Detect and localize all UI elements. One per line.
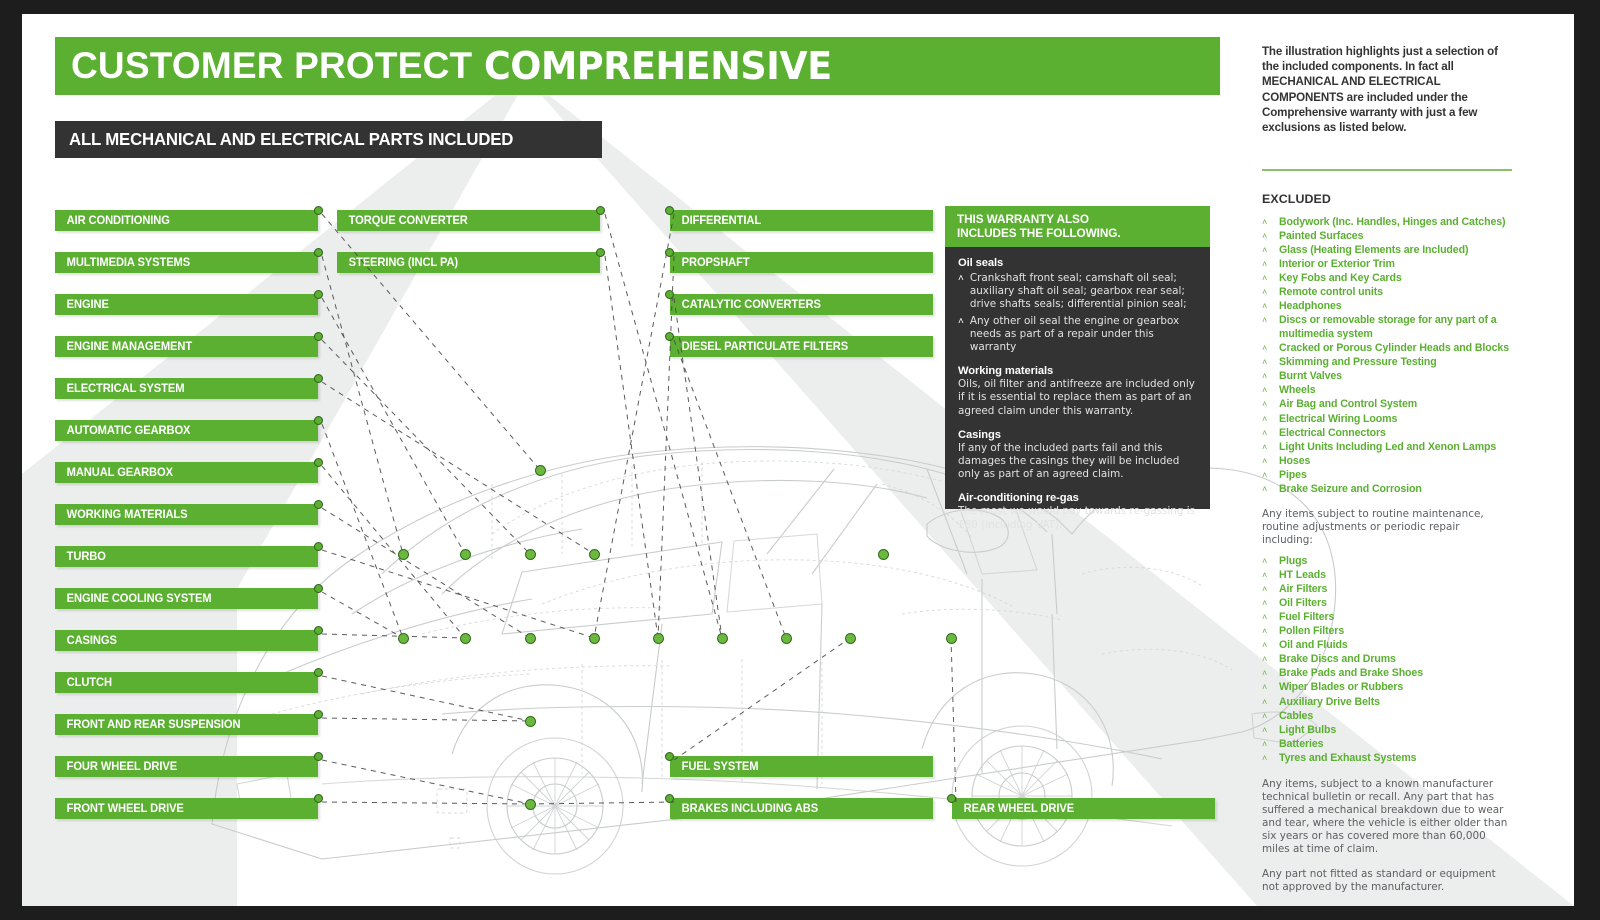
chevron-up-icon: ˄ [1262,597,1271,611]
excluded-list-item-text: Headphones [1279,300,1342,314]
routine-list-item-text: Plugs [1279,555,1307,569]
warranty-bullet: ˄Crankshaft front seal; camshaft oil sea… [958,272,1197,312]
chevron-up-icon: ˄ [1262,342,1271,356]
excluded-list-item-text: Air Bag and Control System [1279,398,1417,412]
callout-connector-dot [665,290,674,299]
excluded-list-item-text: Key Fobs and Key Cards [1279,272,1402,286]
routine-list-item: ˄Oil and Fluids [1262,639,1532,653]
routine-list-item-text: HT Leads [1279,569,1326,583]
car-hotspot-dot[interactable] [845,633,856,644]
chevron-up-icon: ˄ [1262,286,1271,300]
callout-connector-dot [314,416,323,425]
callout-label[interactable]: DIFFERENTIAL [670,210,933,231]
chevron-up-icon: ˄ [1262,314,1271,328]
callout-connector-dot [314,710,323,719]
routine-list-item-text: Wiper Blades or Rubbers [1279,681,1403,695]
callout-label-text: FRONT WHEEL DRIVE [55,803,184,815]
callout-label-text: ENGINE MANAGEMENT [55,341,192,353]
chevron-up-icon: ˄ [1262,469,1271,483]
callout-connector-dot [314,206,323,215]
callout-label[interactable]: ENGINE COOLING SYSTEM [55,588,318,609]
chevron-up-icon: ˄ [958,272,964,312]
excluded-list-item: ˄Pipes [1262,469,1532,483]
excluded-list-item-text: Painted Surfaces [1279,230,1363,244]
car-hotspot-dot[interactable] [878,549,889,560]
routine-list-item: ˄Air Filters [1262,583,1532,597]
callout-connector-dot [596,248,605,257]
chevron-up-icon: ˄ [1262,569,1271,583]
chevron-up-icon: ˄ [1262,455,1271,469]
car-hotspot-dot[interactable] [589,549,600,560]
warranty-panel: THIS WARRANTY ALSO INCLUDES THE FOLLOWIN… [945,206,1210,509]
chevron-up-icon: ˄ [1262,441,1271,455]
routine-list-item: ˄Brake Pads and Brake Shoes [1262,667,1532,681]
car-hotspot-dot[interactable] [460,549,471,560]
routine-list-item-text: Light Bulbs [1279,724,1336,738]
callout-label-text: WORKING MATERIALS [55,509,187,521]
callout-connector-dot [314,794,323,803]
routine-list-item-text: Oil and Fluids [1279,639,1348,653]
excluded-list-item: ˄Wheels [1262,384,1532,398]
chevron-up-icon: ˄ [1262,427,1271,441]
excluded-list-item: ˄Cracked or Porous Cylinder Heads and Bl… [1262,342,1532,356]
callout-label[interactable]: AUTOMATIC GEARBOX [55,420,318,441]
car-hotspot-dot[interactable] [460,633,471,644]
callout-label-text: DIFFERENTIAL [670,215,761,227]
warranty-panel-body: Oil seals˄Crankshaft front seal; camshaf… [945,247,1210,532]
callout-connector-dot [947,794,956,803]
routine-list-item-text: Oil Filters [1279,597,1327,611]
routine-list-item: ˄Batteries [1262,738,1532,752]
car-hotspot-dot[interactable] [781,633,792,644]
warranty-bullet-text: Any other oil seal the engine or gearbox… [970,315,1197,355]
page-title-bold: COMPREHENSIVE [484,44,832,88]
excluded-list-item: ˄Skimming and Pressure Testing [1262,356,1532,370]
excluded-list-item-text: Pipes [1279,469,1307,483]
callout-connector-dot [314,500,323,509]
chevron-up-icon: ˄ [1262,398,1271,412]
chevron-up-icon: ˄ [1262,230,1271,244]
callout-label[interactable]: MULTIMEDIA SYSTEMS [55,252,318,273]
routine-list-item-text: Batteries [1279,738,1323,752]
callout-label-text: PROPSHAFT [670,257,750,269]
car-hotspot-dot[interactable] [589,633,600,644]
excluded-list-item-text: Light Units Including Led and Xenon Lamp… [1279,441,1496,455]
excluded-list-item: ˄Brake Seizure and Corrosion [1262,483,1532,497]
routine-list-item-text: Brake Pads and Brake Shoes [1279,667,1423,681]
chevron-up-icon: ˄ [1262,738,1271,752]
excluded-list-item-text: Interior or Exterior Trim [1279,258,1395,272]
warranty-bullet: ˄Any other oil seal the engine or gearbo… [958,315,1197,355]
excluded-list-item: ˄Painted Surfaces [1262,230,1532,244]
routine-list-item: ˄Fuel Filters [1262,611,1532,625]
callout-label-text: ELECTRICAL SYSTEM [55,383,184,395]
warranty-section-title: Oil seals [958,257,1197,269]
callout-label-text: TORQUE CONVERTER [337,215,468,227]
routine-list-item: ˄Plugs [1262,555,1532,569]
warranty-section-body: Oils, oil filter and antifreeze are incl… [958,378,1197,418]
excluded-list-item: ˄Light Units Including Led and Xenon Lam… [1262,441,1532,455]
excluded-list-item-text: Electrical Connectors [1279,427,1386,441]
chevron-up-icon: ˄ [1262,356,1271,370]
callout-label-text: FUEL SYSTEM [670,761,758,773]
warranty-section-body: If any of the included parts fail and th… [958,442,1197,482]
chevron-up-icon: ˄ [1262,696,1271,710]
excluded-heading: EXCLUDED [1262,192,1532,206]
excluded-list-item-text: Brake Seizure and Corrosion [1279,483,1422,497]
callout-connector-dot [314,752,323,761]
callout-label-text: STEERING (INCL PA) [337,257,458,269]
chevron-up-icon: ˄ [958,315,964,355]
callout-label-text: BRAKES INCLUDING ABS [670,803,818,815]
page-title-light: CUSTOMER PROTECT [71,45,472,87]
callout-label[interactable]: ENGINE [55,294,318,315]
sidebar: The illustration highlights just a selec… [1262,44,1532,894]
callout-label-text: ENGINE COOLING SYSTEM [55,593,212,605]
page-title-bar: CUSTOMER PROTECT COMPREHENSIVE [55,37,1220,95]
chevron-up-icon: ˄ [1262,653,1271,667]
warranty-heading-line1: THIS WARRANTY ALSO [957,212,1198,226]
footnote-1: Any items, subject to a known manufactur… [1262,778,1510,856]
callout-connector-dot [314,290,323,299]
excluded-list-item: ˄Hoses [1262,455,1532,469]
callout-label[interactable]: FRONT WHEEL DRIVE [55,798,318,819]
sidebar-intro: The illustration highlights just a selec… [1262,44,1517,135]
excluded-list-item-text: Wheels [1279,384,1316,398]
callout-label[interactable]: REAR WHEEL DRIVE [952,798,1215,819]
excluded-list-item-text: Glass (Heating Elements are Included) [1279,244,1468,258]
callout-connector-dot [314,248,323,257]
routine-list-item: ˄Oil Filters [1262,597,1532,611]
callout-label[interactable]: TORQUE CONVERTER [337,210,600,231]
callout-connector-dot [314,626,323,635]
callout-label-text: MANUAL GEARBOX [55,467,173,479]
warranty-heading-line2: INCLUDES THE FOLLOWING. [957,226,1198,240]
warranty-section-body: The most we would pay towards re-gassing… [958,505,1197,531]
excluded-list-item: ˄Interior or Exterior Trim [1262,258,1532,272]
excluded-list-item-text: Skimming and Pressure Testing [1279,356,1437,370]
routine-list-item-text: Pollen Filters [1279,625,1344,639]
callout-label[interactable]: CLUTCH [55,672,318,693]
callout-label-text: REAR WHEEL DRIVE [952,803,1074,815]
routine-list-item-text: Air Filters [1279,583,1327,597]
car-hotspot-dot[interactable] [398,549,409,560]
warranty-bullet-text: Crankshaft front seal; camshaft oil seal… [970,272,1197,312]
callout-label-text: DIESEL PARTICULATE FILTERS [670,341,848,353]
chevron-up-icon: ˄ [1262,710,1271,724]
callout-label[interactable]: STEERING (INCL PA) [337,252,600,273]
callout-label-text: AIR CONDITIONING [55,215,170,227]
callout-label-text: MULTIMEDIA SYSTEMS [55,257,190,269]
callout-label-text: CATALYTIC CONVERTERS [670,299,821,311]
chevron-up-icon: ˄ [1262,752,1271,766]
chevron-up-icon: ˄ [1262,300,1271,314]
callout-connector-dot [596,206,605,215]
excluded-list-item-text: Remote control units [1279,286,1383,300]
excluded-list-item: ˄Key Fobs and Key Cards [1262,272,1532,286]
chevron-up-icon: ˄ [1262,611,1271,625]
routine-list-item: ˄Auxiliary Drive Belts [1262,696,1532,710]
chevron-up-icon: ˄ [1262,272,1271,286]
callout-connector-dot [665,794,674,803]
callout-label-text: FRONT AND REAR SUSPENSION [55,719,240,731]
excluded-list-item-text: Discs or removable storage for any part … [1279,314,1532,341]
car-hotspot-dot[interactable] [535,465,546,476]
callout-label-text: TURBO [55,551,106,563]
excluded-list-item: ˄Discs or removable storage for any part… [1262,314,1532,341]
callout-connector-dot [314,374,323,383]
warranty-section-title: Casings [958,429,1197,441]
callout-label-text: AUTOMATIC GEARBOX [55,425,190,437]
callout-label-text: CASINGS [55,635,117,647]
callout-label[interactable]: CASINGS [55,630,318,651]
excluded-list-item-text: Electrical Wiring Looms [1279,413,1397,427]
callout-connector-dot [314,542,323,551]
warranty-panel-header: THIS WARRANTY ALSO INCLUDES THE FOLLOWIN… [945,206,1210,247]
callout-label[interactable]: CATALYTIC CONVERTERS [670,294,933,315]
routine-list-item: ˄Brake Discs and Drums [1262,653,1532,667]
excluded-list: ˄Bodywork (Inc. Handles, Hinges and Catc… [1262,216,1532,497]
car-hotspot-dot[interactable] [525,716,536,727]
callout-connector-dot [665,248,674,257]
excluded-list-item: ˄Glass (Heating Elements are Included) [1262,244,1532,258]
routine-list-item-text: Cables [1279,710,1313,724]
excluded-list-item: ˄Bodywork (Inc. Handles, Hinges and Catc… [1262,216,1532,230]
callout-label[interactable]: ENGINE MANAGEMENT [55,336,318,357]
chevron-up-icon: ˄ [1262,413,1271,427]
infographic-page: CUSTOMER PROTECT COMPREHENSIVE ALL MECHA… [0,0,1600,920]
car-hotspot-dot[interactable] [398,633,409,644]
chevron-up-icon: ˄ [1262,667,1271,681]
subtitle-bar: ALL MECHANICAL AND ELECTRICAL PARTS INCL… [55,121,602,158]
routine-list-item-text: Brake Discs and Drums [1279,653,1396,667]
car-hotspot-dot[interactable] [946,633,957,644]
car-hotspot-dot[interactable] [717,633,728,644]
callout-connector-dot [314,584,323,593]
excluded-list-item: ˄Remote control units [1262,286,1532,300]
callout-label[interactable]: WORKING MATERIALS [55,504,318,525]
chevron-up-icon: ˄ [1262,258,1271,272]
routine-list-item: ˄Pollen Filters [1262,625,1532,639]
chevron-up-icon: ˄ [1262,681,1271,695]
chevron-up-icon: ˄ [1262,555,1271,569]
chevron-up-icon: ˄ [1262,625,1271,639]
callout-connector-dot [665,752,674,761]
sidebar-divider [1262,169,1512,171]
excluded-list-item: ˄Electrical Wiring Looms [1262,413,1532,427]
callout-label[interactable]: FUEL SYSTEM [670,756,933,777]
chevron-up-icon: ˄ [1262,583,1271,597]
routine-list-item: ˄HT Leads [1262,569,1532,583]
car-hotspot-dot[interactable] [653,633,664,644]
chevron-up-icon: ˄ [1262,724,1271,738]
callout-label-text: FOUR WHEEL DRIVE [55,761,177,773]
car-hotspot-dot[interactable] [525,633,536,644]
excluded-list-item: ˄Air Bag and Control System [1262,398,1532,412]
routine-list-item: ˄Wiper Blades or Rubbers [1262,681,1532,695]
excluded-list-item: ˄Headphones [1262,300,1532,314]
callout-connector-dot [665,206,674,215]
chevron-up-icon: ˄ [1262,483,1271,497]
footnote-2: Any part not fitted as standard or equip… [1262,868,1510,894]
chevron-up-icon: ˄ [1262,384,1271,398]
excluded-list-item-text: Cracked or Porous Cylinder Heads and Blo… [1279,342,1509,356]
callout-label[interactable]: TURBO [55,546,318,567]
callout-label[interactable]: PROPSHAFT [670,252,933,273]
callout-label[interactable]: FRONT AND REAR SUSPENSION [55,714,318,735]
routine-list: ˄Plugs˄HT Leads˄Air Filters˄Oil Filters˄… [1262,555,1532,766]
chevron-up-icon: ˄ [1262,639,1271,653]
chevron-up-icon: ˄ [1262,244,1271,258]
infographic-canvas: CUSTOMER PROTECT COMPREHENSIVE ALL MECHA… [22,14,1574,906]
callout-label[interactable]: ELECTRICAL SYSTEM [55,378,318,399]
callout-label[interactable]: FOUR WHEEL DRIVE [55,756,318,777]
routine-list-item-text: Fuel Filters [1279,611,1334,625]
callout-connector-dot [665,332,674,341]
routine-list-item-text: Auxiliary Drive Belts [1279,696,1380,710]
routine-list-item-text: Tyres and Exhaust Systems [1279,752,1416,766]
routine-note: Any items subject to routine maintenance… [1262,508,1510,547]
car-hotspot-dot[interactable] [525,799,536,810]
excluded-list-item: ˄Burnt Valves [1262,370,1532,384]
warranty-section-title: Air-conditioning re-gas [958,492,1197,504]
routine-list-item: ˄Cables [1262,710,1532,724]
routine-list-item: ˄Light Bulbs [1262,724,1532,738]
chevron-up-icon: ˄ [1262,370,1271,384]
routine-list-item: ˄Tyres and Exhaust Systems [1262,752,1532,766]
warranty-section-title: Working materials [958,365,1197,377]
chevron-up-icon: ˄ [1262,216,1271,230]
excluded-list-item: ˄Electrical Connectors [1262,427,1532,441]
subtitle-text: ALL MECHANICAL AND ELECTRICAL PARTS INCL… [69,129,513,150]
callout-label[interactable]: AIR CONDITIONING [55,210,318,231]
callout-label[interactable]: MANUAL GEARBOX [55,462,318,483]
car-hotspot-dot[interactable] [525,549,536,560]
callout-label-text: CLUTCH [55,677,112,689]
callout-label-text: ENGINE [55,299,109,311]
callout-label[interactable]: BRAKES INCLUDING ABS [670,798,933,819]
callout-connector-dot [314,332,323,341]
callout-label[interactable]: DIESEL PARTICULATE FILTERS [670,336,933,357]
excluded-list-item-text: Burnt Valves [1279,370,1342,384]
excluded-list-item-text: Hoses [1279,455,1310,469]
callout-connector-dot [314,458,323,467]
excluded-list-item-text: Bodywork (Inc. Handles, Hinges and Catch… [1279,216,1505,230]
callout-connector-dot [314,668,323,677]
